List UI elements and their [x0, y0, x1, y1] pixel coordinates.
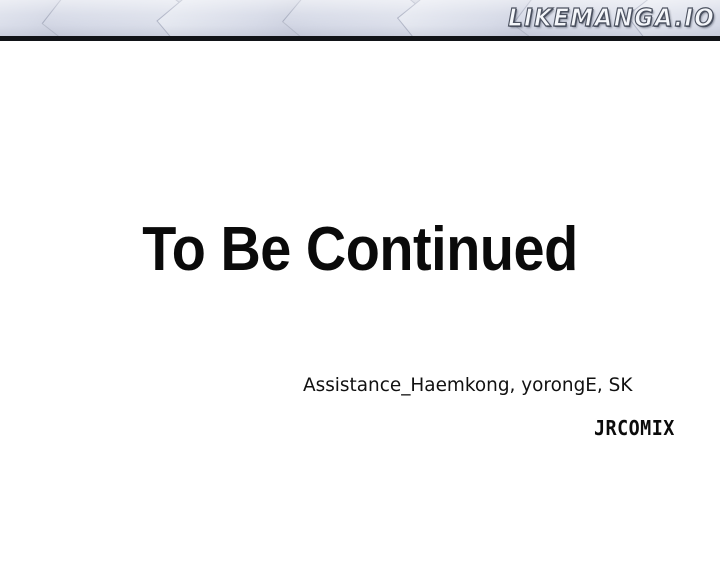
to-be-continued-title: To Be Continued [36, 214, 684, 285]
jrcomix-logo: JRCOMIX [594, 416, 675, 440]
site-watermark: LIKEMANGA.IO [508, 3, 715, 32]
banner-divider [0, 36, 720, 41]
top-banner: LIKEMANGA.IO [0, 0, 720, 36]
credits-line: Assistance_Haemkong, yorongE, SK [303, 374, 691, 396]
comic-page: LIKEMANGA.IO To Be Continued Assistance_… [0, 0, 720, 573]
